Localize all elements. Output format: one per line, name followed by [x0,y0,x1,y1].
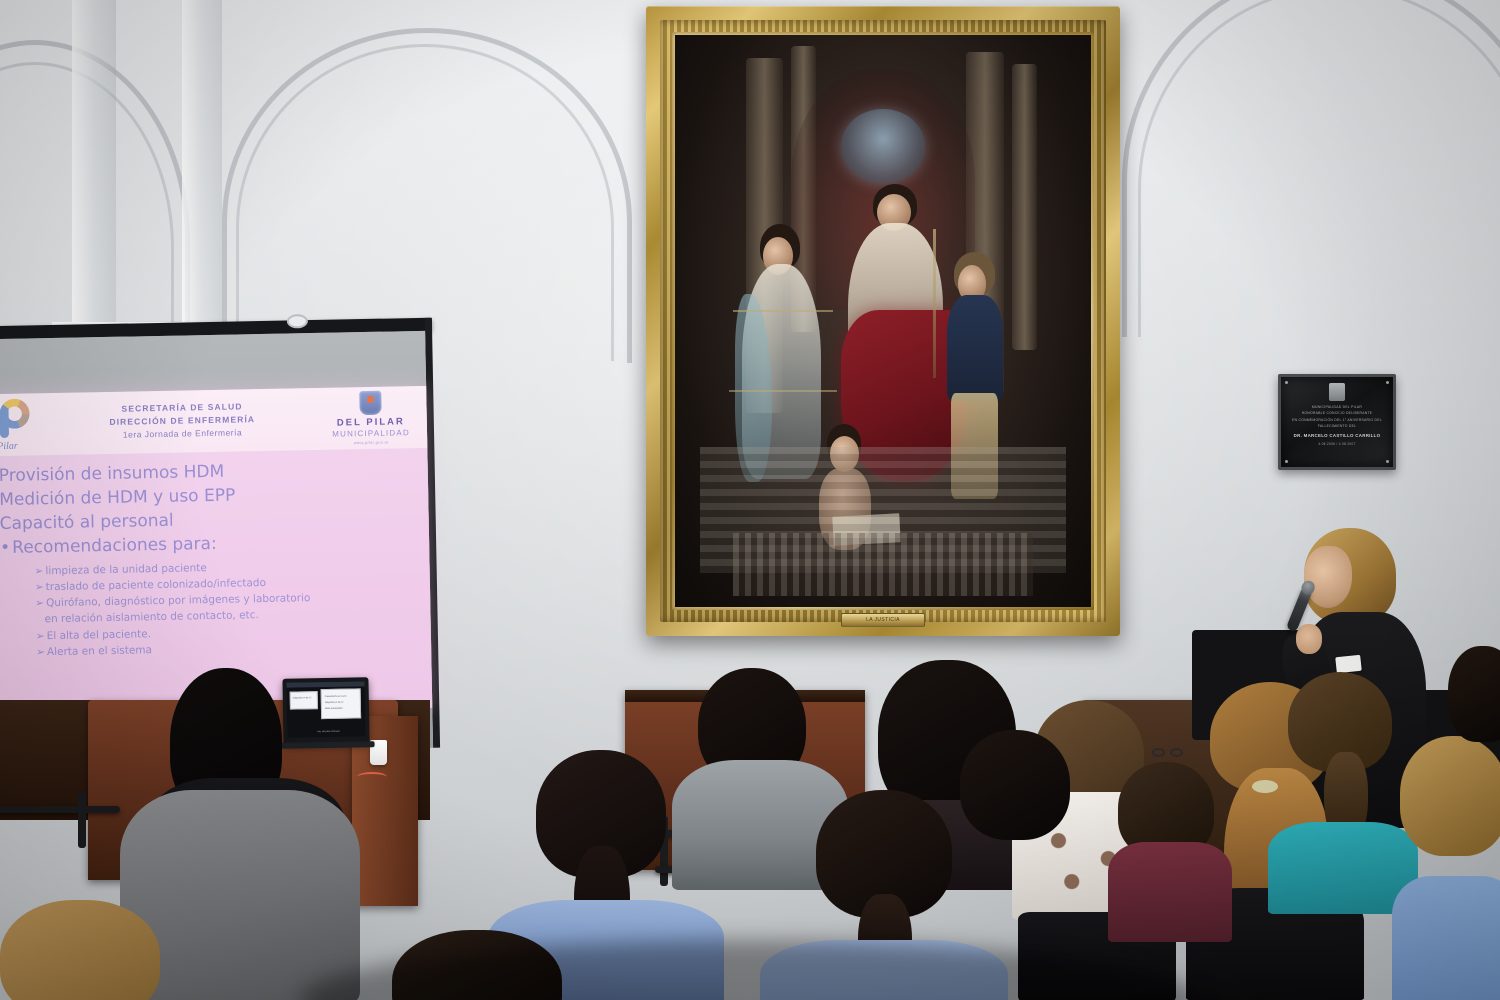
plaque-screw-br [1386,460,1389,463]
slide-sub-bullet-4-text: El alta del paciente. [47,628,152,642]
pilar-logo-ring [0,398,30,429]
wall-arch-right-inner [1138,0,1500,337]
plaque-coat-of-arms-icon [1329,383,1345,401]
slide-bullet-3-text: Capacitó al personal [0,511,174,534]
allegorical-painting: LA JUSTICIA [646,6,1120,636]
speaker-name-badge [1335,655,1362,674]
audience-13-hair [1448,646,1500,742]
audience-member-13 [1448,646,1500,786]
painting-floor-rug [733,533,1033,596]
pilar-logo-icon: Pilar [0,396,40,453]
coat-of-arms-detail [367,396,373,403]
painting-column-right2 [1012,64,1037,350]
plaque-screw-bl [1285,460,1288,463]
painting-scales-2 [729,390,837,392]
audience-member-9 [0,900,180,1000]
sub-marker-3: ➢ [35,597,44,609]
municipality-subtitle: MUNICIPALIDAD [325,428,417,440]
wall-pilaster-center [182,0,222,330]
sub-marker-5: ➢ [36,646,45,658]
presentation-slide: Pilar SECRETARÍA DE SALUD DIRECCIÓN DE E… [0,386,432,716]
slide-bullet-4-text: Recomendaciones para: [12,534,217,558]
bullet-marker-4: • [0,536,12,560]
speaker-hand [1296,624,1322,654]
slide-header-text: SECRETARÍA DE SALUD DIRECCIÓN DE ENFERME… [39,399,325,444]
wall-pilaster-left [72,0,116,345]
audience-11-hair [960,730,1070,840]
audience-member-10 [1108,762,1238,1000]
slide-bullet-1-text: Provisión de insumos HDM [0,462,224,486]
eyeglasses-podium[interactable] [357,772,387,782]
slide-body: •Provisión de insumos HDM •Medición de H… [0,448,431,662]
commemorative-plaque: MUNICIPALIDAD DEL PILAR HONORABLE CONCEJ… [1278,374,1396,470]
railing-left [0,806,120,813]
plaque-line-4: FALLECIMIENTO DEL [1286,423,1388,429]
audience-7-top [1392,876,1500,1000]
coat-of-arms-icon [359,391,381,415]
slide-sub-bullet-1-text: limpieza de la unidad paciente [45,562,207,577]
plaque-honoree-name: DR. MARCELO CASTILLO CARRILLO [1286,433,1388,438]
pilar-logo-wordmark: Pilar [0,441,18,452]
sub-marker-4: ➢ [36,630,45,642]
slide-sub-bullets: ➢limpieza de la unidad paciente ➢traslad… [0,555,431,661]
slide-header: Pilar SECRETARÍA DE SALUD DIRECCIÓN DE E… [0,386,427,456]
plaque-dates: 4.08.2006 / 4.08.2007 [1286,442,1388,446]
slide-bullet-2-text: Medición de HDM y uso EPP [0,486,235,511]
audience-9-hair [0,900,160,1000]
slide-sub-bullet-2-text: traslado de paciente colonizado/infectad… [46,577,266,593]
painting-canvas [675,35,1091,607]
painting-title-plate: LA JUSTICIA [841,613,925,627]
painting-scales [733,310,833,312]
painting-sword [933,229,936,378]
plaque-screw-tl [1285,381,1288,384]
conference-room-photo: LA JUSTICIA MUNICIPALIDAD DEL PILAR HONO… [0,0,1500,1000]
painting-figure-right-doublet [947,295,1004,401]
audience-member-11 [960,730,1080,880]
slide-sub-bullet-5-text: Alerta en el sistema [47,644,152,658]
railing-post-left [78,792,86,848]
sub-marker-2: ➢ [35,581,44,593]
speaker-face [1304,546,1352,608]
plaque-screw-tr [1386,381,1389,384]
painting-crest-emblem [841,109,924,183]
slide-sub-bullet-3-text: Quirófano, diagnóstico por imágenes y la… [46,592,311,609]
municipality-logo: DEL PILAR MUNICIPALIDAD www.pilar.gov.ar [324,390,417,445]
audience-10-maroon-top [1108,842,1232,942]
sub-marker-1: ➢ [35,565,44,577]
